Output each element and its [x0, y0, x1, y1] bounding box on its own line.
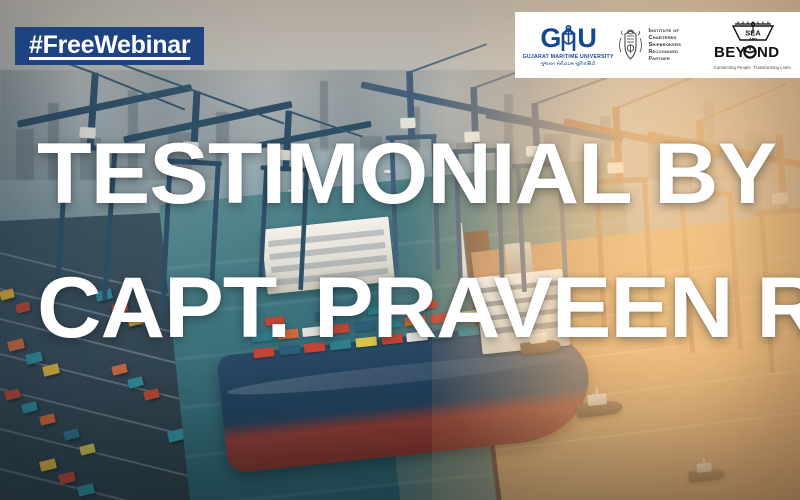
crest-icon	[617, 29, 644, 61]
ics-line-1: Institute of	[648, 28, 681, 35]
gmu-full-name: GUJARAT MARITIME UNIVERSITY	[523, 54, 614, 60]
headline-line-1: TESTIMONIAL BY	[37, 132, 796, 216]
svg-text:BEY: BEY	[714, 44, 746, 60]
sea-and-beyond-wordmark: BEY ND	[714, 43, 792, 63]
ics-line-3: Shipbrokers	[648, 42, 681, 49]
svg-text:SEA: SEA	[745, 29, 761, 38]
ics-line-2: Chartered	[648, 35, 681, 42]
free-webinar-badge-label: #FreeWebinar	[29, 32, 190, 58]
anchor-icon	[560, 25, 577, 52]
partner-logo-banner: G U GUJARAT MARITIME UNIVERSITY ગુજરાત મ…	[515, 12, 800, 78]
headline-line-2: CAPT. PRAVEEN RAJ	[37, 266, 796, 350]
sea-and-beyond-tagline: Connecting People. Transforming Lives.	[714, 65, 792, 70]
sea-and-beyond-emblem: SEA -AND-	[725, 20, 781, 44]
gmu-letter-g: G	[540, 25, 560, 52]
headline-block: TESTIMONIAL BY CAPT. PRAVEEN RAJ	[37, 132, 767, 351]
gmu-gujarati-name: ગુજરાત મેરીટાઇમ યુનિવર્સિટી	[541, 61, 596, 66]
svg-text:-AND-: -AND-	[748, 38, 759, 42]
ics-line-5: Partner	[648, 56, 681, 62]
ics-line-4: Recognised	[648, 49, 681, 55]
poster-canvas: #FreeWebinar G U GUJARAT MARITIME UNIV	[0, 0, 800, 500]
logo-gmu[interactable]: G U GUJARAT MARITIME UNIVERSITY ગુજરાત મ…	[519, 25, 617, 66]
gmu-letter-u: U	[577, 25, 596, 52]
svg-text:ND: ND	[757, 44, 779, 60]
ics-wordmark: Institute of Chartered Shipbrokers Recog…	[648, 28, 681, 62]
logo-institute-chartered-shipbrokers[interactable]: Institute of Chartered Shipbrokers Recog…	[617, 28, 709, 62]
logo-sea-and-beyond[interactable]: SEA -AND- BEY ND Connecting People. Tran…	[710, 20, 796, 70]
free-webinar-badge[interactable]: #FreeWebinar	[15, 27, 204, 65]
gmu-wordmark: G U	[540, 25, 596, 52]
